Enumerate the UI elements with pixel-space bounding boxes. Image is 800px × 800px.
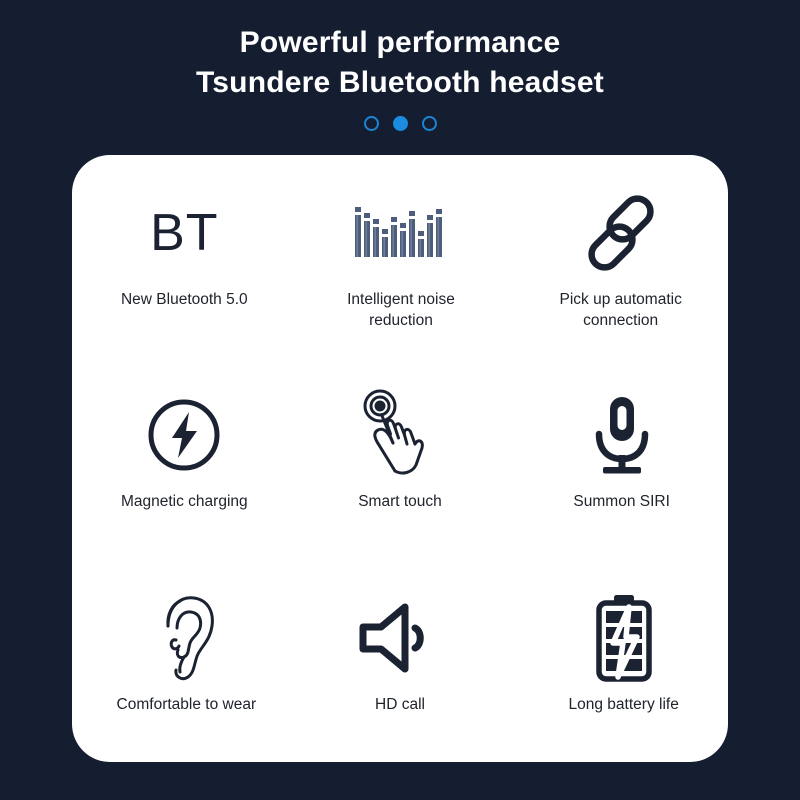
feature-card: BT New Bluetooth 5.0 <box>72 155 728 762</box>
feature-item-bluetooth[interactable]: BT New Bluetooth 5.0 <box>72 155 291 357</box>
feature-label: Comfortable to wear <box>117 694 257 715</box>
feature-item-smart-touch[interactable]: Smart touch <box>291 357 510 559</box>
feature-label: HD call <box>375 694 425 715</box>
touch-hand-icon <box>354 387 446 483</box>
ear-icon <box>148 590 224 686</box>
feature-label: Summon SIRI <box>573 491 669 512</box>
feature-label: Intelligent noise reduction <box>347 289 455 331</box>
equalizer-bars-icon <box>353 185 449 281</box>
feature-label: Magnetic charging <box>121 491 248 512</box>
lightning-circle-icon <box>143 387 225 483</box>
feature-item-auto-connection[interactable]: Pick up automatic connection <box>509 155 728 357</box>
feature-label: Long battery life <box>569 694 679 715</box>
speaker-icon <box>355 590 445 686</box>
microphone-icon <box>583 387 661 483</box>
feature-grid: BT New Bluetooth 5.0 <box>72 155 728 762</box>
feature-item-magnetic-charging[interactable]: Magnetic charging <box>72 357 291 559</box>
pagination-dots <box>0 116 800 131</box>
feature-label: Smart touch <box>358 491 442 512</box>
pagination-dot-2-active[interactable] <box>393 116 408 131</box>
page-title-line-1: Powerful performance <box>0 24 800 62</box>
promo-banner: Powerful performance Tsundere Bluetooth … <box>0 0 800 800</box>
battery-icon <box>593 590 655 686</box>
bt-text-icon: BT <box>150 185 218 281</box>
chain-link-icon <box>578 185 664 281</box>
feature-item-hd-call[interactable]: HD call <box>291 560 510 762</box>
header: Powerful performance Tsundere Bluetooth … <box>0 0 800 150</box>
feature-label: New Bluetooth 5.0 <box>121 289 248 310</box>
pagination-dot-1[interactable] <box>364 116 379 131</box>
feature-label: Pick up automatic connection <box>559 289 681 331</box>
feature-item-battery[interactable]: Long battery life <box>509 560 728 762</box>
pagination-dot-3[interactable] <box>422 116 437 131</box>
page-title-line-2: Tsundere Bluetooth headset <box>0 64 800 102</box>
feature-item-siri[interactable]: Summon SIRI <box>509 357 728 559</box>
bt-text-icon-label: BT <box>150 205 218 261</box>
feature-item-noise-reduction[interactable]: Intelligent noise reduction <box>291 155 510 357</box>
feature-item-comfortable[interactable]: Comfortable to wear <box>72 560 291 762</box>
